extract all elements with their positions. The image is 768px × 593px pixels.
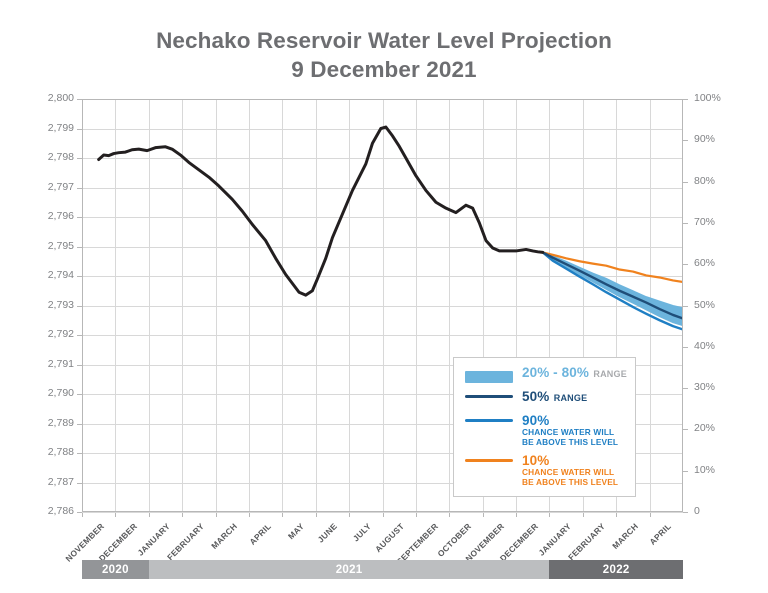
y-axis-tick-label: 2,797: [28, 182, 74, 193]
gridline-horizontal: [82, 512, 683, 513]
legend-sub-90-line1: CHANCE WATER WILL: [522, 427, 618, 437]
legend-label-group: 10% CHANCE WATER WILL BE ABOVE THIS LEVE…: [522, 455, 618, 487]
legend-label-90: 90%: [522, 413, 549, 428]
y-axis-tick-label: 2,793: [28, 300, 74, 311]
legend-swatch-median: [465, 391, 513, 398]
y-axis-tick-label: 2,788: [28, 447, 74, 458]
legend-label-50: 50%: [522, 389, 549, 404]
chart-title-block: Nechako Reservoir Water Level Projection…: [0, 26, 768, 84]
legend-label-group: 90% CHANCE WATER WILL BE ABOVE THIS LEVE…: [522, 415, 618, 447]
y2-axis-tick: [683, 471, 688, 472]
y-axis-tick-label: 2,792: [28, 329, 74, 340]
y2-axis-tick-label: 80%: [694, 176, 744, 187]
y2-axis-tick-label: 20%: [694, 423, 744, 434]
y-axis-tick-label: 2,794: [28, 270, 74, 281]
y2-axis-tick-label: 90%: [694, 134, 744, 145]
legend-suffix-range: RANGE: [554, 393, 588, 403]
y-axis-tick-label: 2,786: [28, 506, 74, 517]
year-band-2021: 2021: [149, 560, 550, 579]
legend-color-line: [465, 419, 513, 422]
y2-axis-tick: [683, 99, 688, 100]
y-axis-tick-label: 2,799: [28, 123, 74, 134]
y2-axis-tick: [683, 140, 688, 141]
legend-color-line: [465, 459, 513, 462]
y-axis-tick-label: 2,787: [28, 477, 74, 488]
legend-item-10-percent: 10% CHANCE WATER WILL BE ABOVE THIS LEVE…: [465, 455, 618, 487]
year-band-2020: 2020: [82, 560, 149, 579]
year-band-bar: 202020212022: [82, 560, 683, 579]
y2-axis-tick: [683, 429, 688, 430]
year-band-2022: 2022: [549, 560, 683, 579]
chart-subtitle: 9 December 2021: [0, 55, 768, 84]
y2-axis-tick-label: 30%: [694, 382, 744, 393]
y-axis-tick-label: 2,800: [28, 93, 74, 104]
legend-label-group: 20% - 80% RANGE: [522, 367, 627, 381]
legend-label-20-80: 20% - 80%: [522, 365, 589, 380]
legend-sub-10-line1: CHANCE WATER WILL: [522, 467, 618, 477]
y2-axis-tick: [683, 512, 688, 513]
chart-title: Nechako Reservoir Water Level Projection: [0, 26, 768, 55]
y2-axis-tick: [683, 347, 688, 348]
legend-label-10: 10%: [522, 453, 549, 468]
y-axis-tick-label: 2,798: [28, 152, 74, 163]
legend-color-line: [465, 395, 513, 398]
legend-item-90-percent: 90% CHANCE WATER WILL BE ABOVE THIS LEVE…: [465, 415, 618, 447]
legend-suffix-range: RANGE: [593, 369, 627, 379]
y-axis-tick-label: 2,790: [28, 388, 74, 399]
y2-axis-tick-label: 50%: [694, 300, 744, 311]
chart-root: Nechako Reservoir Water Level Projection…: [0, 0, 768, 593]
y2-axis-tick-label: 100%: [694, 93, 744, 104]
y2-axis-tick-label: 70%: [694, 217, 744, 228]
legend-item-50-range: 50% RANGE: [465, 391, 587, 405]
legend-label-group: 50% RANGE: [522, 391, 587, 405]
y2-axis-tick-label: 60%: [694, 258, 744, 269]
legend-color-swatch: [465, 371, 513, 383]
legend-swatch-p90: [465, 415, 513, 422]
y2-axis-tick-label: 10%: [694, 465, 744, 476]
y2-axis-tick-label: 40%: [694, 341, 744, 352]
y2-axis-tick: [683, 264, 688, 265]
y2-axis-tick-label: 0: [694, 506, 744, 517]
y-axis-tick-label: 2,789: [28, 418, 74, 429]
legend-item-20-80-range: 20% - 80% RANGE: [465, 367, 627, 383]
legend-swatch-band: [465, 367, 513, 383]
y2-axis-tick: [683, 182, 688, 183]
chart-legend: 20% - 80% RANGE 50% RANGE 90% CHANCE WAT…: [453, 357, 636, 497]
y2-axis-tick: [683, 306, 688, 307]
y2-axis-tick: [683, 223, 688, 224]
legend-sub-90-line2: BE ABOVE THIS LEVEL: [522, 437, 618, 447]
y-axis-tick-label: 2,791: [28, 359, 74, 370]
y2-axis-tick: [683, 388, 688, 389]
y-axis-tick-label: 2,796: [28, 211, 74, 222]
legend-swatch-p10: [465, 455, 513, 462]
legend-sub-10-line2: BE ABOVE THIS LEVEL: [522, 477, 618, 487]
y-axis-tick-label: 2,795: [28, 241, 74, 252]
